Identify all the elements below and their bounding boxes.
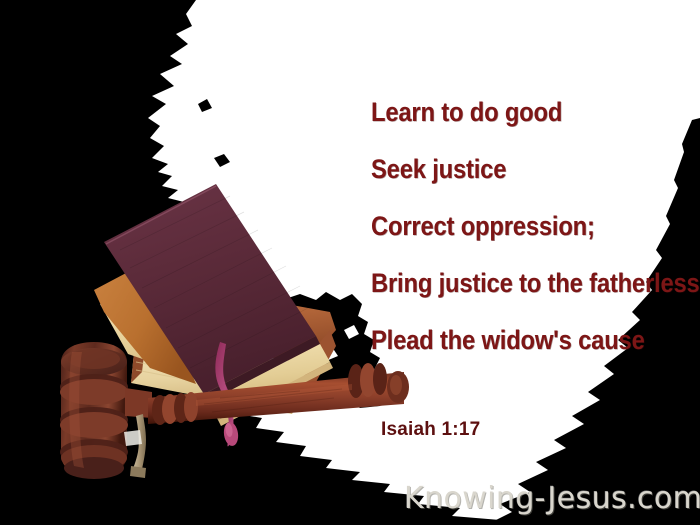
verse-line-3: Correct oppression;	[371, 198, 657, 255]
verse-line-4: Bring justice to the fatherless	[371, 255, 657, 312]
site-watermark: Knowing-Jesus.com	[404, 481, 700, 516]
verse-line-1: Learn to do good	[371, 84, 657, 141]
verse-line-2: Seek justice	[371, 141, 657, 198]
scripture-image-canvas: Learn to do good Seek justice Correct op…	[0, 0, 700, 525]
verse-text-block: Learn to do good Seek justice Correct op…	[371, 84, 696, 369]
verse-reference: Isaiah 1:17	[381, 419, 480, 441]
verse-line-5: Plead the widow's cause	[371, 312, 657, 369]
